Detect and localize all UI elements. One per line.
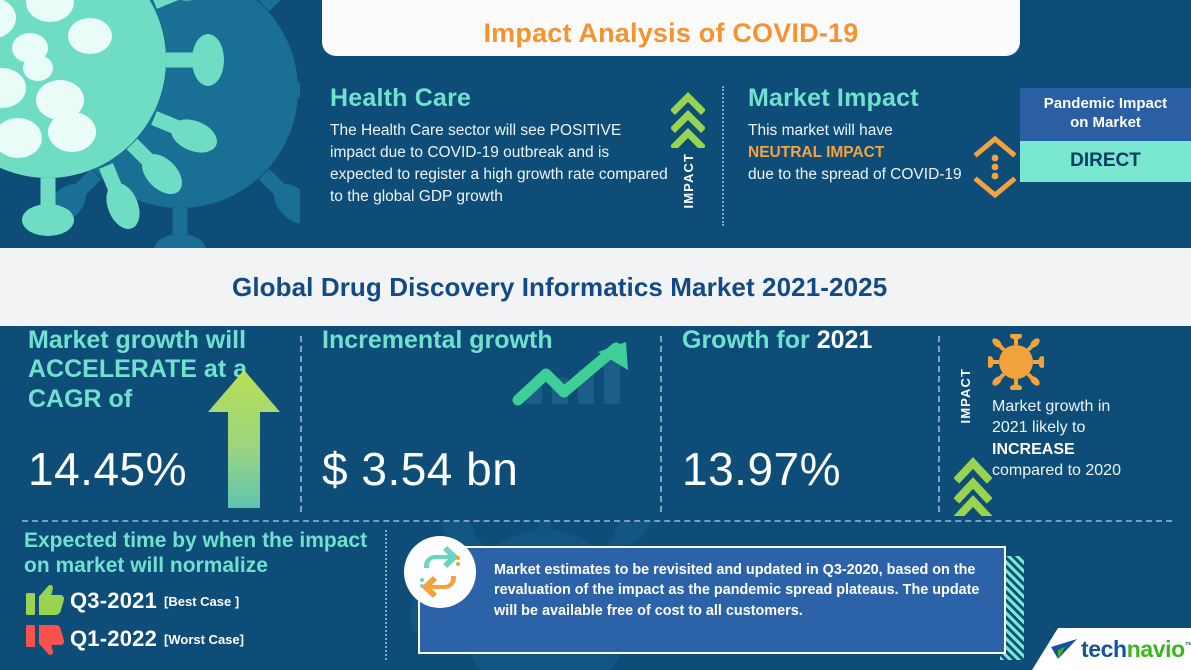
normalize-row-worst: Q1-2022 [Worst Case] bbox=[24, 622, 374, 656]
stat-incremental-value: $ 3.54 bn bbox=[322, 442, 518, 496]
market-impact-body: This market will have NEUTRAL IMPACT due… bbox=[748, 120, 968, 186]
impact-right-text: Market growth in 2021 likely to INCREASE… bbox=[992, 396, 1188, 481]
pandemic-impact-badge-value: DIRECT bbox=[1020, 141, 1191, 182]
note-box: Market estimates to be revisited and upd… bbox=[418, 546, 1006, 654]
impact-right-line3: compared to 2020 bbox=[992, 462, 1121, 479]
market-title: Global Drug Discovery Informatics Market… bbox=[232, 272, 887, 303]
stat-growth-2021: Growth for 2021 13.97% bbox=[682, 326, 932, 522]
page-title-pill: Impact Analysis of COVID-19 bbox=[322, 0, 1020, 56]
stat-growth-heading: Growth for 2021 bbox=[682, 326, 932, 355]
brand-logo[interactable]: technavio™ bbox=[1050, 636, 1191, 663]
normalize-best-case: [Best Case ] bbox=[164, 594, 239, 609]
logo-text-secondary: navio bbox=[1127, 636, 1185, 662]
impact-right-line1: Market growth in bbox=[992, 398, 1110, 415]
health-care-heading: Health Care bbox=[330, 84, 670, 113]
market-impact-heading: Market Impact bbox=[748, 84, 968, 113]
pandemic-impact-badge-title: Pandemic Impact on Market bbox=[1020, 88, 1191, 141]
section-divider-horizontal bbox=[22, 520, 1172, 522]
market-impact-line1: This market will have bbox=[748, 122, 893, 139]
impact-right-highlight: INCREASE bbox=[992, 441, 1075, 458]
page-title: Impact Analysis of COVID-19 bbox=[483, 18, 858, 56]
normalize-best-quarter: Q3-2021 bbox=[70, 588, 157, 614]
neutral-updown-icon bbox=[972, 136, 1018, 198]
up-arrow-icon bbox=[206, 368, 282, 508]
badge-title-line1: Pandemic Impact bbox=[1044, 95, 1167, 112]
health-care-section: Health Care The Health Care sector will … bbox=[330, 84, 670, 209]
stats-divider-2 bbox=[660, 336, 662, 512]
stat-growth-value: 13.97% bbox=[682, 442, 841, 496]
logo-text-primary: tech bbox=[1081, 636, 1127, 662]
stat-growth-heading-green: Growth for bbox=[682, 326, 810, 354]
normalize-worst-quarter: Q1-2022 bbox=[70, 626, 157, 652]
normalize-worst-case: [Worst Case] bbox=[164, 632, 244, 647]
top-section-divider bbox=[722, 86, 724, 226]
stats-divider-1 bbox=[300, 336, 302, 512]
trend-up-chart-icon bbox=[512, 340, 634, 408]
stat-cagr-value: 14.45% bbox=[28, 442, 187, 496]
bottom-divider bbox=[385, 530, 387, 660]
infographic-canvas: Impact Analysis of COVID-19 Health Care … bbox=[0, 0, 1191, 670]
market-impact-section: Market Impact This market will have NEUT… bbox=[748, 84, 968, 186]
stat-growth-heading-year: 2021 bbox=[817, 326, 873, 354]
health-care-body: The Health Care sector will see POSITIVE… bbox=[330, 120, 670, 209]
market-impact-line2: due to the spread of COVID-19 bbox=[748, 166, 962, 183]
double-chevron-up-icon bbox=[671, 92, 705, 148]
impact-right-section: IMPACT bbox=[952, 332, 1191, 522]
normalize-heading: Expected time by when the impact on mark… bbox=[24, 528, 374, 578]
paper-plane-icon bbox=[1050, 638, 1078, 662]
double-chevron-up-icon bbox=[954, 454, 992, 516]
badge-title-line2: on Market bbox=[1070, 114, 1141, 131]
logo-text: technavio™ bbox=[1081, 636, 1191, 663]
coronavirus-icon bbox=[988, 334, 1044, 390]
thumbs-up-icon bbox=[24, 584, 70, 618]
impact-indicator-top: IMPACT bbox=[666, 92, 710, 232]
normalize-section: Expected time by when the impact on mark… bbox=[24, 528, 374, 656]
impact-label-right: IMPACT bbox=[958, 368, 973, 423]
pandemic-impact-badge: Pandemic Impact on Market DIRECT bbox=[1020, 88, 1191, 182]
note-icon-badge bbox=[404, 536, 476, 608]
thumbs-down-icon bbox=[24, 622, 70, 656]
impact-right-line2: 2021 likely to bbox=[992, 419, 1085, 436]
impact-label-top: IMPACT bbox=[681, 153, 696, 208]
market-impact-highlight: NEUTRAL IMPACT bbox=[748, 144, 884, 161]
logo-trademark: ™ bbox=[1185, 640, 1191, 650]
normalize-row-best: Q3-2021 [Best Case ] bbox=[24, 584, 374, 618]
stats-divider-3 bbox=[938, 336, 940, 512]
note-text: Market estimates to be revisited and upd… bbox=[420, 548, 1004, 621]
refresh-cycle-icon bbox=[404, 536, 476, 608]
